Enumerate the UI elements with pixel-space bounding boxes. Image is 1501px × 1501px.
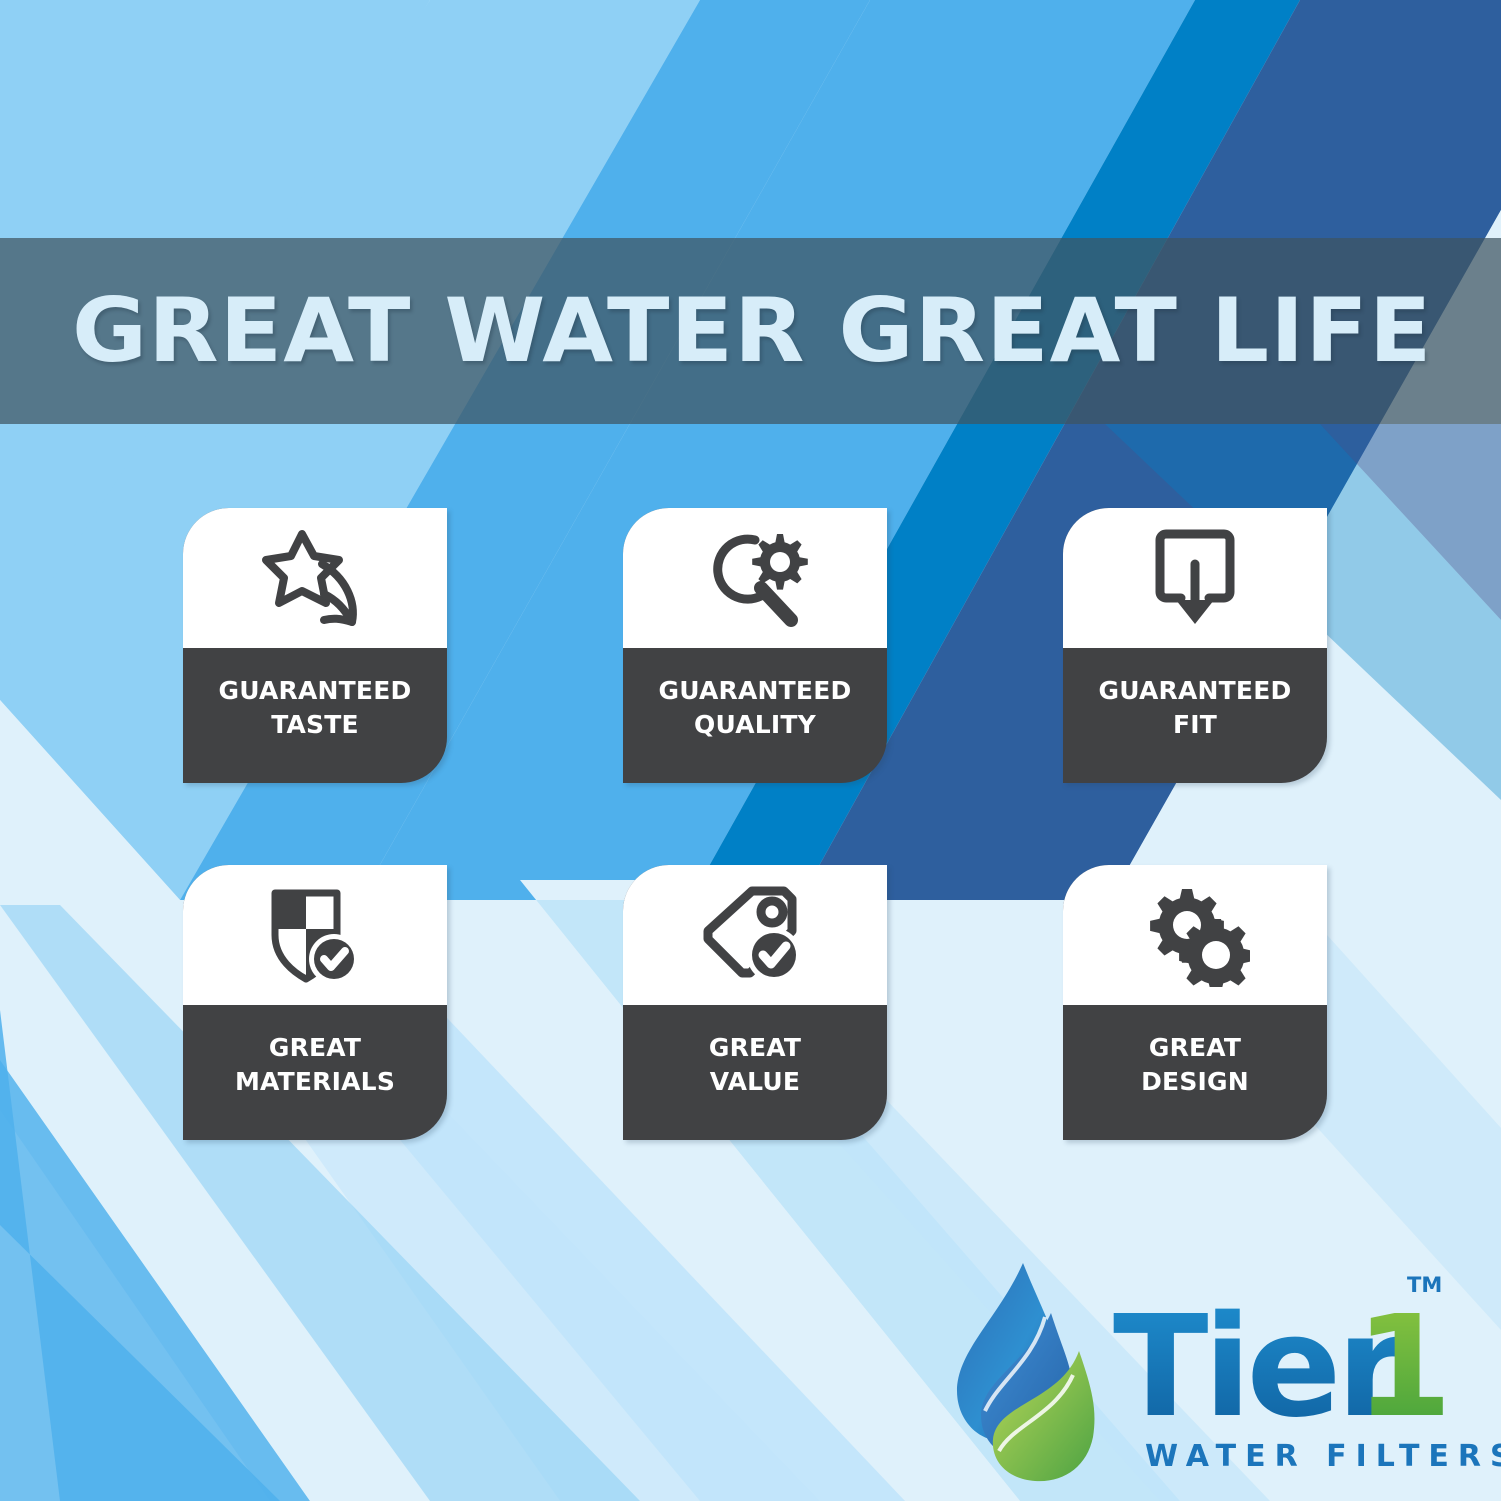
price-tag-check-icon	[700, 883, 810, 987]
card-label-line1: GUARANTEED	[1099, 676, 1292, 705]
card-icon-panel	[183, 508, 447, 648]
card-label-text: GUARANTEEDFIT	[1099, 674, 1292, 742]
feature-card-guaranteed-taste[interactable]: GUARANTEEDTASTE	[183, 508, 447, 783]
card-label-line2: FIT	[1173, 710, 1217, 739]
card-icon-panel	[623, 865, 887, 1005]
trademark-symbol: TM	[1407, 1273, 1442, 1297]
brand-logo[interactable]: Tier 1 TM WATER FILTERS	[955, 1255, 1445, 1487]
card-label-line2: QUALITY	[694, 710, 816, 739]
shield-check-icon	[265, 883, 365, 987]
card-icon-panel	[1063, 508, 1327, 648]
card-label-line1: GUARANTEED	[219, 676, 412, 705]
card-label: GUARANTEEDQUALITY	[623, 648, 887, 783]
card-icon-panel	[183, 865, 447, 1005]
page-title: GREAT WATER GREAT LIFE	[72, 287, 1432, 375]
card-label-line2: MATERIALS	[235, 1067, 395, 1096]
magnifier-gear-icon	[699, 526, 811, 630]
shooting-star-icon	[260, 526, 370, 630]
card-label-line1: GREAT	[709, 1033, 801, 1062]
feature-card-great-design[interactable]: GREATDESIGN	[1063, 865, 1327, 1140]
card-label-line1: GREAT	[269, 1033, 361, 1062]
card-label-text: GREATMATERIALS	[235, 1031, 395, 1099]
card-label-text: GUARANTEEDQUALITY	[659, 674, 852, 742]
feature-card-great-value[interactable]: GREATVALUE	[623, 865, 887, 1140]
poster-canvas: GREAT WATER GREAT LIFE GUARANTEEDTASTE	[0, 0, 1501, 1501]
card-label: GREATVALUE	[623, 1005, 887, 1140]
card-label-line2: DESIGN	[1141, 1067, 1249, 1096]
feature-card-guaranteed-quality[interactable]: GUARANTEEDQUALITY	[623, 508, 887, 783]
feature-card-grid: GUARANTEEDTASTE GUARANTEEDQUALITY	[183, 508, 1331, 1140]
card-label-line2: TASTE	[271, 710, 359, 739]
svg-text:1: 1	[1355, 1287, 1443, 1447]
card-label-text: GREATVALUE	[709, 1031, 801, 1099]
card-label: GREATMATERIALS	[183, 1005, 447, 1140]
card-icon-panel	[623, 508, 887, 648]
card-label-text: GUARANTEEDTASTE	[219, 674, 412, 742]
card-label-line1: GUARANTEED	[659, 676, 852, 705]
card-label: GUARANTEEDTASTE	[183, 648, 447, 783]
insert-into-box-arrow-icon	[1150, 528, 1240, 628]
card-label-text: GREATDESIGN	[1141, 1031, 1249, 1099]
feature-card-great-materials[interactable]: GREATMATERIALS	[183, 865, 447, 1140]
logo-tagline: WATER FILTERS	[1145, 1439, 1501, 1474]
feature-card-guaranteed-fit[interactable]: GUARANTEEDFIT	[1063, 508, 1327, 783]
card-label-line1: GREAT	[1149, 1033, 1241, 1062]
card-label-line2: VALUE	[710, 1067, 800, 1096]
headline-banner: GREAT WATER GREAT LIFE	[0, 238, 1501, 424]
logo-wordmark: Tier 1	[1113, 1287, 1443, 1447]
card-label: GUARANTEEDFIT	[1063, 648, 1327, 783]
card-icon-panel	[1063, 865, 1327, 1005]
water-drop-leaf-icon	[955, 1255, 1105, 1487]
card-label: GREATDESIGN	[1063, 1005, 1327, 1140]
two-gears-icon	[1140, 883, 1250, 987]
